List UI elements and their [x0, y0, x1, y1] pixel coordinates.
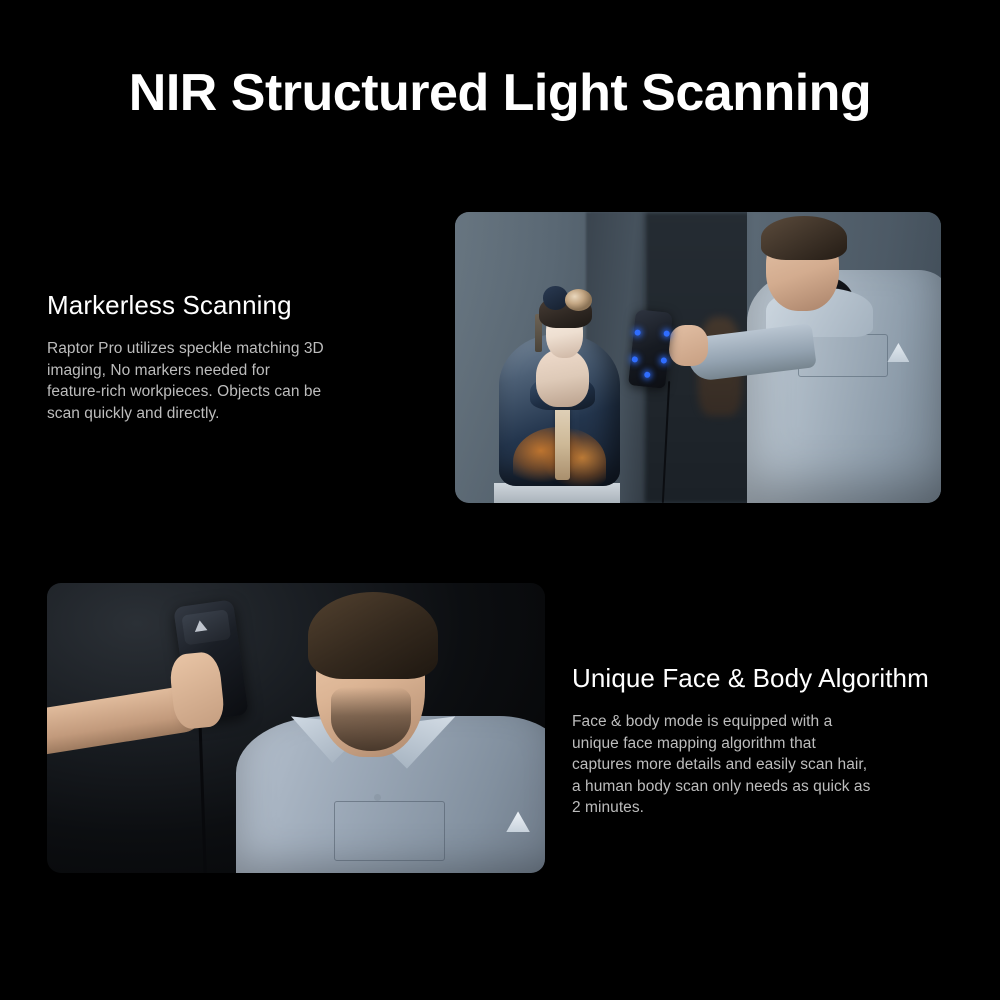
marketing-feature-page: NIR Structured Light Scanning Markerless… [0, 0, 1000, 1000]
museum-statue-scene [455, 212, 941, 503]
scanner-led-icon [644, 371, 651, 378]
face-body-scan-scene [47, 583, 545, 873]
section-markerless-scanning-text: Markerless Scanning Raptor Pro utilizes … [47, 289, 407, 424]
operator-hand [669, 325, 708, 366]
face-body-scan-photo [47, 583, 545, 873]
section-body-markerless-scanning: Raptor Pro utilizes speckle matching 3D … [47, 338, 407, 424]
scanner-led-icon [664, 330, 671, 337]
statue-pedestal [494, 483, 620, 503]
statue-torso [536, 349, 589, 407]
section-heading-face-body-algorithm: Unique Face & Body Algorithm [572, 662, 962, 694]
scanner-led-icon [635, 329, 642, 336]
subject-jacket-button [374, 794, 381, 801]
subject-chest-pocket [334, 801, 446, 861]
scanner-led-icon [632, 356, 639, 363]
subject-hair [308, 592, 437, 679]
scanner-lens-panel [182, 610, 231, 646]
scanner-led-icon [661, 357, 668, 364]
operator-hair [761, 216, 847, 260]
subject-beard [331, 687, 411, 751]
museum-statue-scan-photo [455, 212, 941, 503]
page-title: NIR Structured Light Scanning [0, 62, 1000, 124]
section-face-body-algorithm-text: Unique Face & Body Algorithm Face & body… [572, 662, 962, 819]
statue-hair-ornament-gold [565, 289, 592, 311]
section-body-face-body-algorithm: Face & body mode is equipped with a uniq… [572, 711, 962, 819]
section-heading-markerless-scanning: Markerless Scanning [47, 289, 407, 321]
